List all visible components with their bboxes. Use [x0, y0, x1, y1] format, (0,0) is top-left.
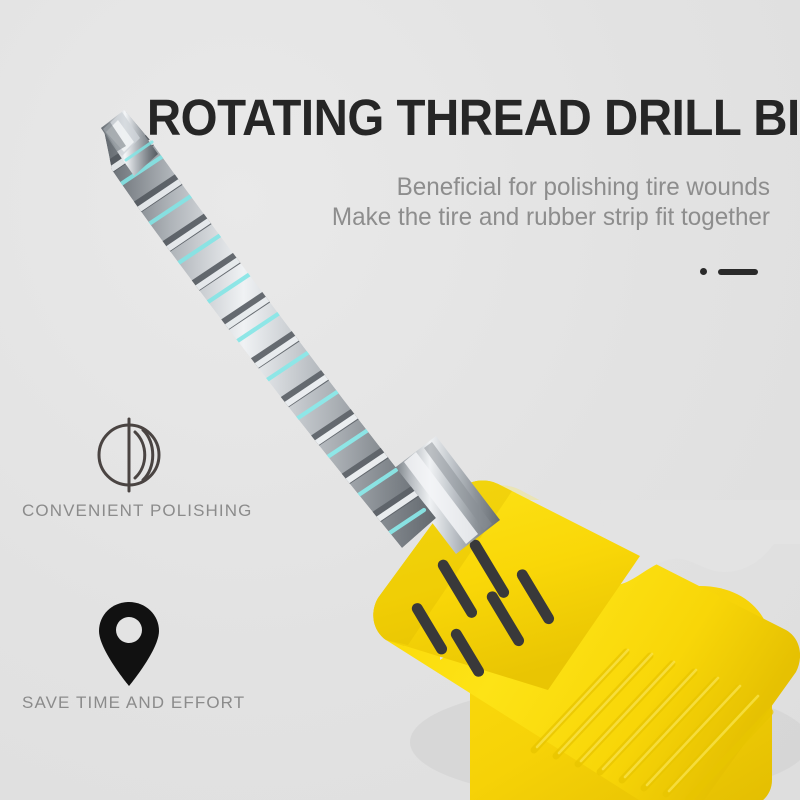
- headline-block: ROTATING THREAD DRILL BIT: [100, 92, 770, 144]
- subtitle-line-1: Beneficial for polishing tire wounds: [169, 172, 770, 202]
- feature-label: CONVENIENT POLISHING: [22, 501, 252, 520]
- page-title: ROTATING THREAD DRILL BIT: [147, 92, 770, 144]
- feature-convenient-polishing: CONVENIENT POLISHING: [22, 414, 252, 521]
- dot-icon: [700, 268, 707, 275]
- polishing-circle-icon: [88, 414, 252, 501]
- subtitle-block: Beneficial for polishing tire wounds Mak…: [150, 172, 770, 232]
- subtitle-line-2: Make the tire and rubber strip fit toget…: [169, 202, 770, 232]
- product-banner: ROTATING THREAD DRILL BIT Beneficial for…: [0, 0, 800, 800]
- feature-save-time-and-effort: SAVE TIME AND EFFORT: [22, 600, 245, 713]
- feature-label: SAVE TIME AND EFFORT: [22, 693, 245, 712]
- dot-dash-rule: [700, 268, 758, 275]
- dash-icon: [718, 269, 758, 275]
- location-pin-icon: [96, 600, 245, 693]
